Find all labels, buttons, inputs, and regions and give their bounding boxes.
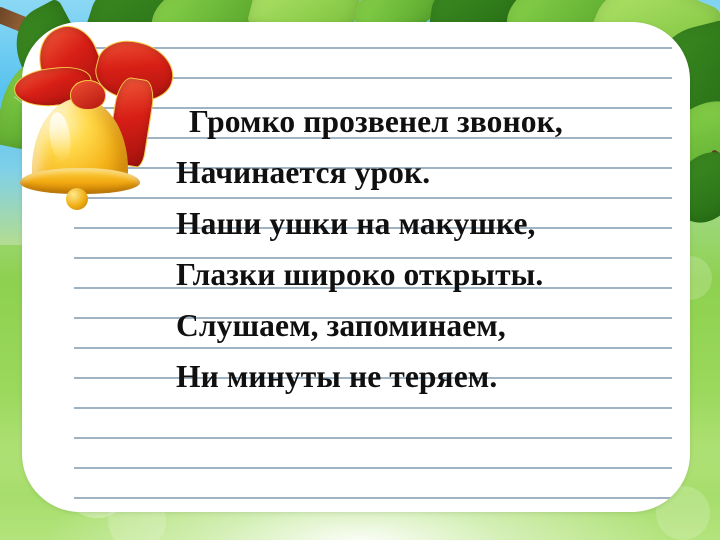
ribbon-knot	[70, 80, 106, 110]
rule-line	[74, 437, 672, 439]
poem-text-block: Громко прозвенел звонок, Начинается урок…	[176, 96, 696, 402]
poem-line: Начинается урок.	[176, 147, 696, 198]
rule-line	[74, 407, 672, 409]
poem-line: Наши ушки на макушке,	[176, 198, 696, 249]
school-bell-ornament	[8, 20, 188, 200]
rule-line	[74, 497, 672, 499]
poem-line: Громко прозвенел звонок,	[176, 96, 696, 147]
poem-line: Слушаем, запоминаем,	[176, 300, 696, 351]
poem-line: Глазки широко открыты.	[176, 249, 696, 300]
bell-clapper	[66, 188, 88, 210]
poem-line: Ни минуты не теряем.	[176, 351, 696, 402]
slide-canvas: Громко прозвенел звонок, Начинается урок…	[0, 0, 720, 540]
rule-line	[74, 467, 672, 469]
